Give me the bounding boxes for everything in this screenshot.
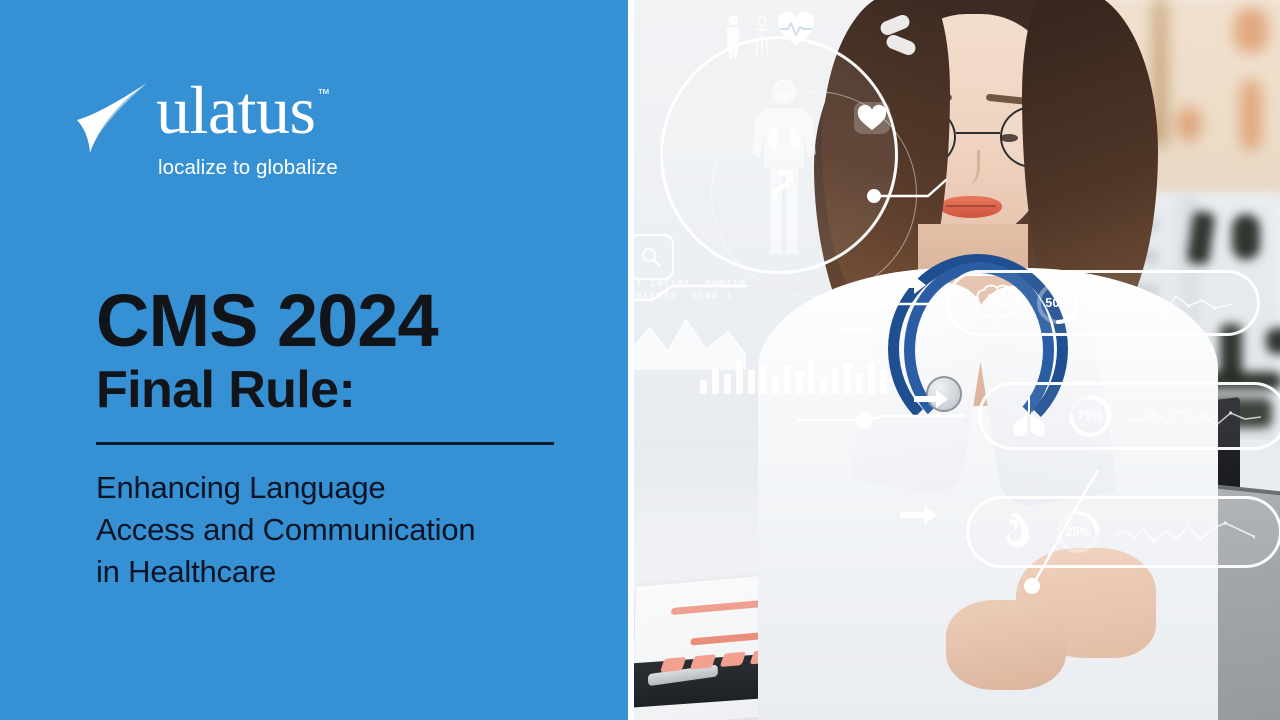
brand-tagline: localize to globalize bbox=[158, 156, 416, 180]
page-subtitle-rule: Final Rule: bbox=[96, 362, 566, 418]
trademark-symbol: ™ bbox=[317, 86, 331, 101]
doctor-figure bbox=[778, 0, 1198, 720]
description-line-2: Access and Communication bbox=[96, 509, 566, 551]
poster-canvas: ulatus ™ localize to globalize CMS 2024 … bbox=[0, 0, 1280, 720]
quill-sail-mark-icon bbox=[76, 82, 150, 154]
left-content-panel: ulatus ™ localize to globalize CMS 2024 … bbox=[0, 0, 628, 720]
brand-wordmark: ulatus ™ bbox=[156, 78, 315, 143]
brand-logo[interactable]: ulatus ™ localize to globalize bbox=[76, 78, 416, 180]
divider bbox=[96, 442, 554, 445]
stethoscope bbox=[778, 0, 1198, 520]
description-line-1: Enhancing Language bbox=[96, 467, 566, 509]
brand-name: ulatus bbox=[156, 72, 315, 148]
description-text: Enhancing Language Access and Communicat… bbox=[96, 467, 566, 593]
panel-divider-gap bbox=[628, 0, 634, 720]
description-line-3: in Healthcare bbox=[96, 551, 566, 593]
headline-block: CMS 2024 Final Rule: Enhancing Language … bbox=[96, 284, 566, 594]
photo-scene bbox=[628, 0, 1280, 720]
hand-typing bbox=[946, 600, 1066, 690]
page-title: CMS 2024 bbox=[96, 284, 566, 358]
hero-image-panel: 1 101101 000110 011011 1100 1 bbox=[628, 0, 1280, 720]
